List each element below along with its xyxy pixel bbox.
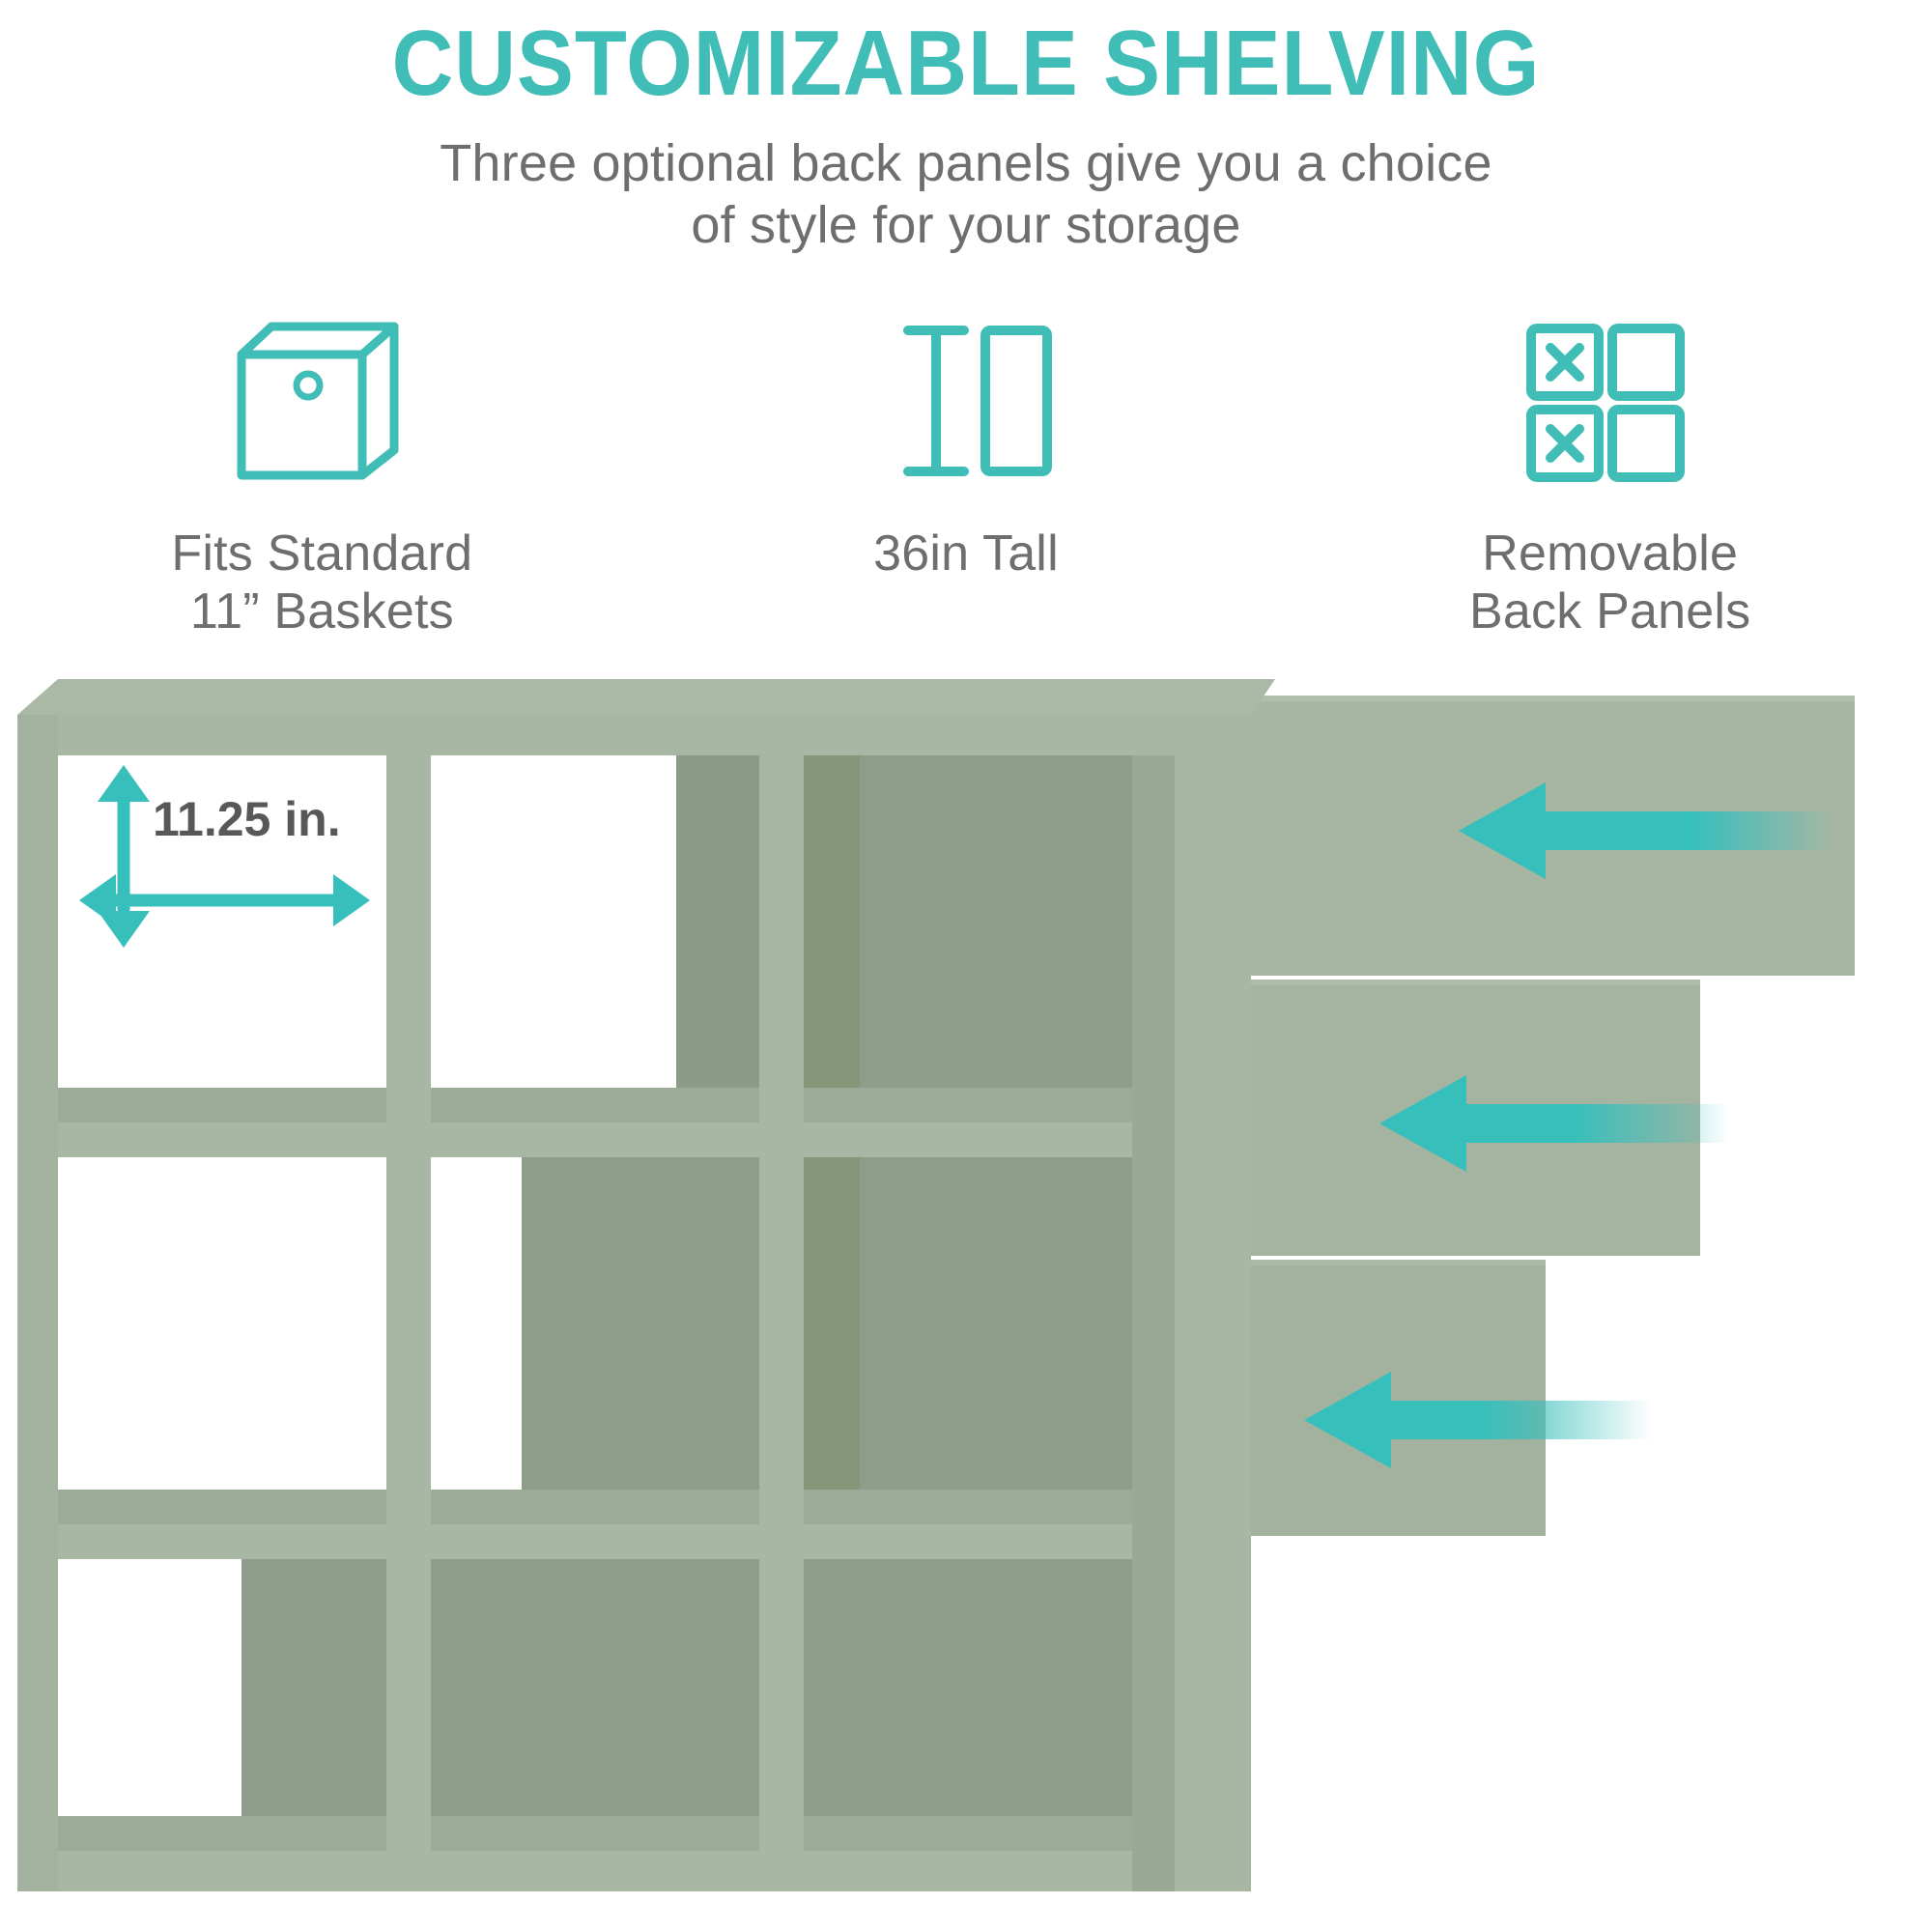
feature-3-label-line-1: Removable xyxy=(1469,526,1750,583)
feature-2-label-line-1: 36in Tall xyxy=(873,526,1059,583)
cube-r1c2-side-shadow xyxy=(676,755,759,1088)
page-subtitle: Three optional back panels give you a ch… xyxy=(0,133,1932,256)
cube-r2c3-left-shadow xyxy=(804,1157,860,1490)
feature-label-fits-standard-baskets: Fits Standard 11” Baskets xyxy=(171,526,472,641)
feature-1-label-line-1: Fits Standard xyxy=(171,526,472,583)
back-panel-bottom-bevel xyxy=(1246,1260,1546,1265)
panel-left-side xyxy=(17,715,58,1891)
dimension-label: 11.25 in. xyxy=(153,792,341,846)
subtitle-line-1: Three optional back panels give you a ch… xyxy=(0,133,1932,195)
back-panel-middle-bevel xyxy=(1246,980,1700,985)
feature-removable-back-panels: Removable Back Panels xyxy=(1288,309,1932,657)
shelf-board-row1-face xyxy=(17,1122,1251,1157)
removable-panels-grid-icon xyxy=(1514,309,1707,493)
feature-1-label-line-2: 11” Baskets xyxy=(171,583,472,641)
shelf-unit-body xyxy=(17,679,1275,1891)
subtitle-line-2: of style for your storage xyxy=(0,195,1932,257)
feature-highlights-row: Fits Standard 11” Baskets 36in Tall xyxy=(0,309,1932,657)
back-panel-top-bevel xyxy=(1246,696,1855,701)
feature-fits-standard-baskets: Fits Standard 11” Baskets xyxy=(0,309,644,657)
feature-label-removable-back-panels: Removable Back Panels xyxy=(1469,526,1750,641)
feature-3-label-line-2: Back Panels xyxy=(1469,583,1750,641)
shelf-top-surface xyxy=(17,679,1275,715)
removable-panels-grid-icon-svg xyxy=(1514,309,1707,493)
divider-vertical-1 xyxy=(386,755,431,1891)
infographic-header: CUSTOMIZABLE SHELVING Three optional bac… xyxy=(0,0,1932,256)
back-panel-bottom[interactable] xyxy=(1246,1260,1546,1536)
panel-right-side-shadow xyxy=(1132,755,1175,1891)
height-measurement-icon xyxy=(869,309,1063,493)
product-illustration: 11.25 in. xyxy=(0,676,1932,1932)
shelf-base-face xyxy=(17,1851,1251,1891)
shelf-board-row2-face xyxy=(17,1524,1251,1559)
height-measurement-icon-svg xyxy=(869,309,1063,493)
cube-r2c1-interior-open[interactable] xyxy=(58,1157,386,1490)
storage-cube-basket-icon-svg xyxy=(225,309,418,493)
storage-cube-basket-icon xyxy=(225,309,418,493)
cube-r1c3-left-shadow xyxy=(804,755,860,1088)
cube-r2c2-open-strip xyxy=(431,1157,522,1490)
feature-label-36in-tall: 36in Tall xyxy=(873,526,1059,583)
page-title: CUSTOMIZABLE SHELVING xyxy=(77,17,1855,110)
feature-36in-tall: 36in Tall xyxy=(644,309,1289,657)
shelving-unit-svg: 11.25 in. xyxy=(0,676,1932,1932)
divider-vertical-2 xyxy=(759,755,804,1891)
